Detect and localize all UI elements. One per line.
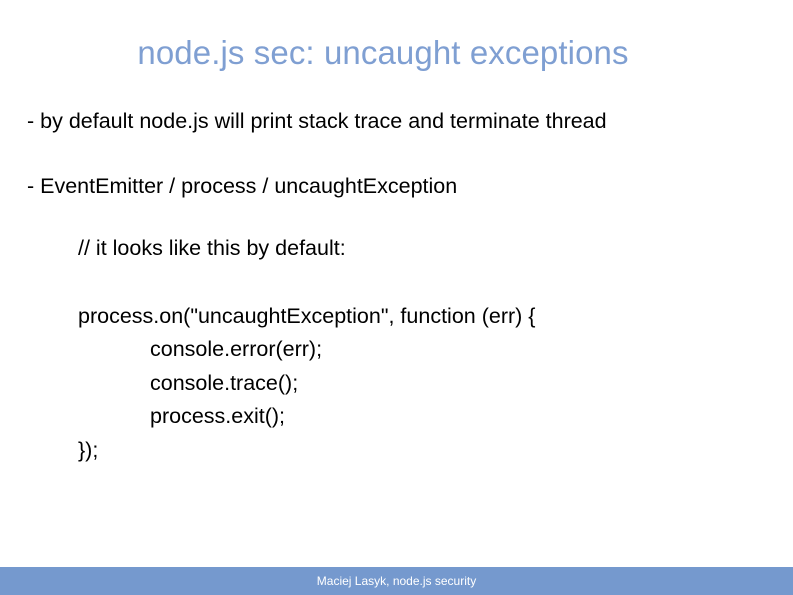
slide: node.js sec: uncaught exceptions - by de… (0, 0, 793, 595)
footer-bar: Maciej Lasyk, node.js security (0, 567, 793, 595)
code-line-process-exit: process.exit(); (78, 400, 768, 434)
bullet-list: - by default node.js will print stack tr… (27, 108, 767, 199)
list-item: - EventEmitter / process / uncaughtExcep… (27, 173, 767, 199)
code-line-blank (78, 266, 768, 300)
code-line-console-error: console.error(err); (78, 333, 768, 367)
code-line-process-on: process.on("uncaughtException", function… (78, 300, 768, 334)
code-line-comment: // it looks like this by default: (78, 232, 768, 266)
code-line-console-trace: console.trace(); (78, 367, 768, 401)
code-block: // it looks like this by default: proces… (78, 232, 768, 467)
list-item: - by default node.js will print stack tr… (27, 108, 767, 134)
footer-text: Maciej Lasyk, node.js security (0, 567, 793, 595)
page-title: node.js sec: uncaught exceptions (0, 33, 766, 73)
code-line-closing: }); (78, 434, 768, 468)
